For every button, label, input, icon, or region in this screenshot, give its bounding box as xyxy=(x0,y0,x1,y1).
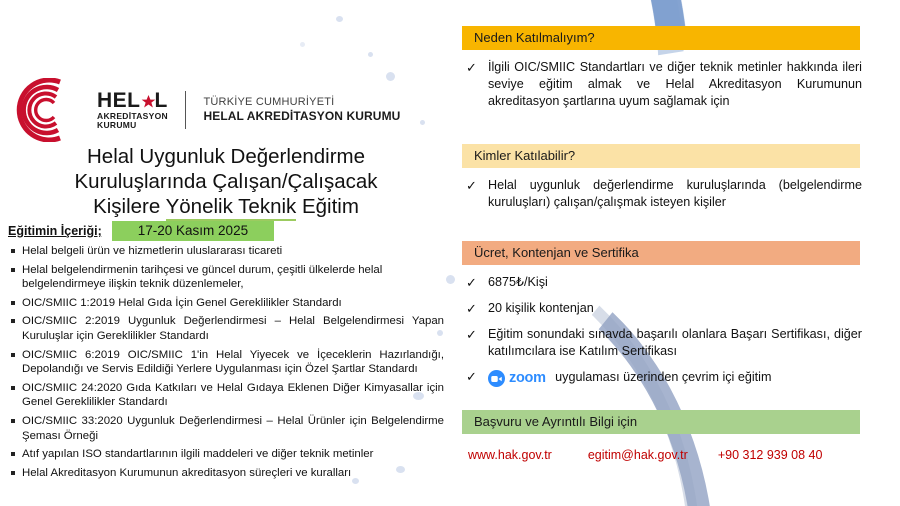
list-item: OIC/SMIIC 1:2019 Helal Gıda İçin Genel G… xyxy=(8,296,444,311)
page-title-line-3-c: Eğitim xyxy=(296,195,359,218)
page-title-line-2: Kuruluşlarında Çalışan/Çalışacak xyxy=(0,169,452,194)
organization-line-2: HELAL AKREDİTASYON KURUMU xyxy=(203,109,400,124)
brand-divider xyxy=(185,91,187,129)
zoom-wordmark: zoom xyxy=(509,369,546,389)
zoom-camera-icon xyxy=(488,370,505,387)
section-heading-why: Neden Katılmalıyım? xyxy=(462,26,860,50)
helal-word-head: HEL xyxy=(97,90,141,112)
section-heading-contact: Başvuru ve Ayrıntılı Bilgi için xyxy=(462,410,860,434)
content-header-row: Eğitimin İçeriği; 17-20 Kasım 2025 xyxy=(8,221,274,241)
list-item: OIC/SMIIC 24:2020 Gıda Katkıları ve Hela… xyxy=(8,381,444,410)
website-link[interactable]: www.hak.gov.tr xyxy=(468,448,552,462)
content-bullet-list: Helal belgeli ürün ve hizmetlerin ulusla… xyxy=(8,244,444,484)
email-link[interactable]: egitim@hak.gov.tr xyxy=(588,448,688,462)
content-label: Eğitimin İçeriği; xyxy=(8,224,102,238)
poster-root: HEL L AKREDİTASYON KURUMU TÜRKİYE CUMHUR… xyxy=(0,0,900,506)
list-item: OIC/SMIIC 6:2019 OIC/SMIIC 1'in Helal Yi… xyxy=(8,348,444,377)
page-title-line-3: Kişilere Yönelik Teknik Eğitim xyxy=(0,194,452,219)
helal-wordmark: HEL L AKREDİTASYON KURUMU xyxy=(97,90,168,130)
organization-name: TÜRKİYE CUMHURİYETİ HELAL AKREDİTASYON K… xyxy=(203,96,400,125)
brand-lockup: HEL L AKREDİTASYON KURUMU TÜRKİYE CUMHUR… xyxy=(14,78,400,142)
organization-line-1: TÜRKİYE CUMHURİYETİ xyxy=(203,96,400,110)
fee-item-quota: 20 kişilik kontenjan xyxy=(462,300,862,317)
date-badge: 17-20 Kasım 2025 xyxy=(112,221,274,241)
helal-word-tail: L xyxy=(155,90,168,112)
list-item: Helal belgeli ürün ve hizmetlerin ulusla… xyxy=(8,244,444,259)
helal-subtitle-2: KURUMU xyxy=(97,121,168,130)
list-item: Atıf yapılan ISO standartlarının ilgili … xyxy=(8,447,444,462)
page-title: Helal Uygunluk Değerlendirme Kuruluşları… xyxy=(0,144,452,219)
helal-swoosh-logo-icon xyxy=(14,78,88,142)
helal-word: HEL L xyxy=(97,90,168,112)
why-item: İlgili OIC/SMIIC Standartları ve diğer t… xyxy=(462,59,862,110)
list-item: Helal belgelendirmenin tarihçesi ve günc… xyxy=(8,263,444,292)
list-item: OIC/SMIIC 33:2020 Uygunluk Değerlendirme… xyxy=(8,414,444,443)
contact-row: www.hak.gov.tr egitim@hak.gov.tr +90 312… xyxy=(462,448,900,462)
left-column: HEL L AKREDİTASYON KURUMU TÜRKİYE CUMHUR… xyxy=(0,0,452,506)
fee-item-certificate: Eğitim sonundaki sınavda başarılı olanla… xyxy=(462,326,862,360)
page-title-line-3-underlined: Yönelik Teknik xyxy=(166,195,297,221)
section-heading-fee: Ücret, Kontenjan ve Sertifika xyxy=(462,241,860,265)
page-title-line-1: Helal Uygunluk Değerlendirme xyxy=(0,144,452,169)
list-item: Helal Akreditasyon Kurumunun akreditasyo… xyxy=(8,466,444,481)
zoom-logo: zoom xyxy=(488,369,546,389)
who-item: Helal uygunluk değerlendirme kuruluşları… xyxy=(462,177,862,211)
list-item: OIC/SMIIC 2:2019 Uygunluk Değerlendirmes… xyxy=(8,314,444,343)
page-title-line-3-a: Kişilere xyxy=(93,195,166,218)
zoom-item-text: uygulaması üzerinden çevrim içi eğitim xyxy=(555,370,771,384)
phone-number[interactable]: +90 312 939 08 40 xyxy=(718,448,823,462)
right-column: Neden Katılmalıyım? İlgili OIC/SMIIC Sta… xyxy=(462,0,900,506)
section-heading-who: Kimler Katılabilir? xyxy=(462,144,860,168)
star-icon xyxy=(141,94,156,109)
fee-item-zoom: zoom uygulaması üzerinden çevrim içi eği… xyxy=(462,368,862,388)
fee-item-price: 6875₺/Kişi xyxy=(462,274,862,291)
